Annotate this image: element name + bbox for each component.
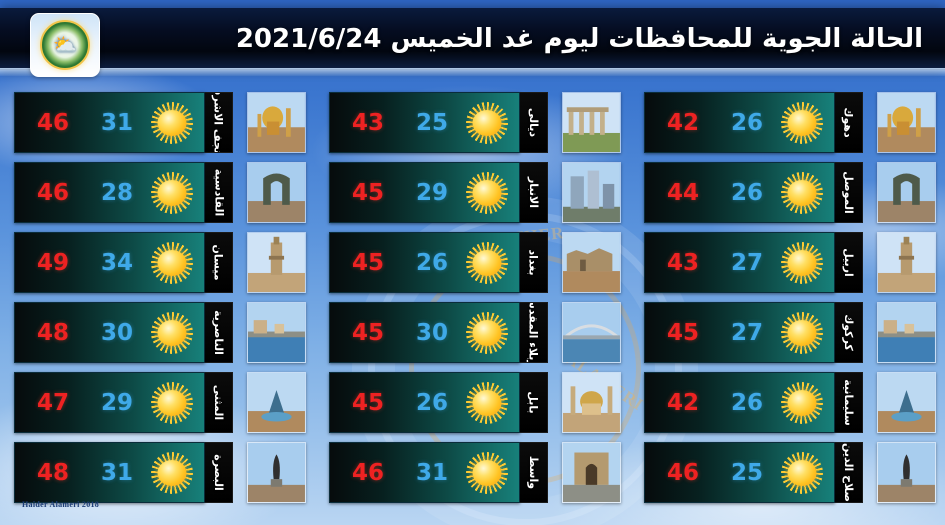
min-temperature: 31 [101,110,133,136]
forecast-row[interactable]: 4625صلاح الدين [644,442,936,501]
forecast-row[interactable]: 4527كركوك [644,302,936,361]
governorate-name: بغداد [527,249,540,275]
sun-icon [466,452,508,494]
forecast-row[interactable]: 4631واسط [329,442,621,501]
sun-disc [158,110,187,136]
sun-disc [158,320,187,346]
governorate-name: ميسان [212,244,225,280]
landmark-karbala [562,302,621,363]
forecast-row[interactable]: 4729المثنى [14,372,306,431]
governorate-name: المثنى [212,385,225,420]
forecast-panel: 4831 [14,442,205,503]
governorate-name: كركوك [842,314,855,351]
landmark-sulaymaniyah [877,372,936,433]
sun-icon [151,172,193,214]
forecast-panel: 4631 [14,92,205,153]
forecast-grid: 4226دهوك 4426الموصل 4327اربيل 4527كركوك … [0,92,945,517]
max-temperature: 44 [667,180,699,206]
forecast-panel: 4530 [329,302,520,363]
sun-icon [781,172,823,214]
sun-disc [158,460,187,486]
sun-disc [473,390,502,416]
forecast-row[interactable]: 4526بغداد [329,232,621,291]
sun-disc [788,390,817,416]
sun-icon [151,242,193,284]
landmark-kirkuk [877,302,936,363]
min-temperature: 31 [101,460,133,486]
forecast-panel: 4631 [329,442,520,503]
governorate-name: كربلاء المقدسة [527,302,540,363]
governorate-label-strip: الموصل [835,162,864,223]
cloud-sun-icon: ⛅ [53,36,77,55]
max-temperature: 46 [37,110,69,136]
sun-disc [473,460,502,486]
sun-icon [151,382,193,424]
governorate-label-strip: بغداد [520,232,549,293]
governorate-label-strip: الناصرية [205,302,234,363]
forecast-panel: 4325 [329,92,520,153]
governorate-label-strip: صلاح الدين [835,442,864,503]
forecast-panel: 4226 [644,92,835,153]
sun-icon [466,382,508,424]
governorate-name: القادسية [212,169,225,217]
sun-icon [151,452,193,494]
landmark-salahaddin [877,442,936,503]
forecast-row[interactable]: 4325ديالى [329,92,621,151]
forecast-panel: 4327 [644,232,835,293]
sun-icon [151,312,193,354]
landmark-erbil [877,232,936,293]
sun-disc [473,250,502,276]
column-middle: 4325ديالى 4529الانبار 4526بغداد 4530كربل… [315,92,630,517]
sun-disc [788,110,817,136]
sun-disc [788,250,817,276]
governorate-name: واسط [527,456,540,489]
min-temperature: 25 [731,460,763,486]
max-temperature: 43 [352,110,384,136]
forecast-panel: 4830 [14,302,205,363]
governorate-name: الانبار [527,177,540,208]
governorate-label-strip: كربلاء المقدسة [520,302,549,363]
page-title: الحالة الجوية للمحافظات ليوم غد الخميس 2… [236,8,923,70]
max-temperature: 45 [352,250,384,276]
min-temperature: 29 [101,390,133,416]
min-temperature: 26 [731,180,763,206]
header-bar: الحالة الجوية للمحافظات ليوم غد الخميس 2… [0,8,945,70]
max-temperature: 46 [37,180,69,206]
forecast-row[interactable]: 4426الموصل [644,162,936,221]
max-temperature: 46 [352,460,384,486]
governorate-label-strip: ديالى [520,92,549,153]
landmark-najaf [247,92,306,153]
max-temperature: 46 [667,460,699,486]
logo-ring: ⛅ [40,20,90,70]
sun-disc [473,110,502,136]
min-temperature: 31 [416,460,448,486]
min-temperature: 25 [416,110,448,136]
landmark-maysan [247,232,306,293]
min-temperature: 26 [731,390,763,416]
sun-disc [788,320,817,346]
forecast-row[interactable]: 4529الانبار [329,162,621,221]
forecast-row[interactable]: 4631النجف الاشرف [14,92,306,151]
sun-icon [781,242,823,284]
min-temperature: 28 [101,180,133,206]
governorate-name: سليمانية [842,379,855,426]
governorate-label-strip: اربيل [835,232,864,293]
landmark-wasit [562,442,621,503]
sun-disc [158,180,187,206]
max-temperature: 42 [667,390,699,416]
weather-forecast-poster: HAIDER ALAMERI WEATHER الحالة الجوية للم… [0,0,945,525]
forecast-panel: 4628 [14,162,205,223]
max-temperature: 49 [37,250,69,276]
governorate-label-strip: كركوك [835,302,864,363]
sun-icon [466,172,508,214]
forecast-row[interactable]: 4226سليمانية [644,372,936,431]
governorate-label-strip: بابل [520,372,549,433]
forecast-row[interactable]: 4526بابل [329,372,621,431]
sun-icon [151,102,193,144]
governorate-name: ديالى [527,108,540,137]
sun-icon [781,382,823,424]
min-temperature: 30 [416,320,448,346]
min-temperature: 34 [101,250,133,276]
governorate-label-strip: المثنى [205,372,234,433]
governorate-name: النجف الاشرف [212,92,225,153]
landmark-qadisiyah [247,162,306,223]
sun-icon [466,242,508,284]
forecast-panel: 4529 [329,162,520,223]
sun-icon [466,102,508,144]
forecast-panel: 4934 [14,232,205,293]
min-temperature: 26 [416,390,448,416]
max-temperature: 48 [37,460,69,486]
sun-icon [781,452,823,494]
governorate-label-strip: دهوك [835,92,864,153]
forecast-panel: 4526 [329,372,520,433]
sun-disc [158,250,187,276]
forecast-row[interactable]: 4934ميسان [14,232,306,291]
governorate-label-strip: القادسية [205,162,234,223]
landmark-babil [562,372,621,433]
sun-icon [781,102,823,144]
column-left: 4631النجف الاشرف 4628القادسية 4934ميسان … [0,92,315,517]
landmark-baghdad [562,232,621,293]
sun-disc [788,180,817,206]
max-temperature: 48 [37,320,69,346]
sun-icon [781,312,823,354]
max-temperature: 45 [352,320,384,346]
landmark-dohuk [877,92,936,153]
forecast-panel: 4426 [644,162,835,223]
governorate-label-strip: واسط [520,442,549,503]
min-temperature: 30 [101,320,133,346]
governorate-label-strip: النجف الاشرف [205,92,234,153]
forecast-row[interactable]: 4830الناصرية [14,302,306,361]
organization-logo: ⛅ [30,13,100,77]
landmark-basra [247,442,306,503]
governorate-name: صلاح الدين [842,443,855,502]
min-temperature: 27 [731,250,763,276]
landmark-diyala [562,92,621,153]
sun-disc [158,390,187,416]
forecast-row[interactable]: 4327اربيل [644,232,936,291]
forecast-row[interactable]: 4530كربلاء المقدسة [329,302,621,361]
sun-disc [788,460,817,486]
forecast-row[interactable]: 4831البصرة [14,442,306,501]
governorate-name: البصرة [212,454,225,491]
forecast-panel: 4625 [644,442,835,503]
forecast-panel: 4729 [14,372,205,433]
governorate-label-strip: البصرة [205,442,234,503]
governorate-name: الموصل [842,171,855,214]
min-temperature: 26 [416,250,448,276]
min-temperature: 27 [731,320,763,346]
governorate-name: بابل [527,391,540,413]
forecast-panel: 4226 [644,372,835,433]
landmark-muthanna [247,372,306,433]
forecast-row[interactable]: 4628القادسية [14,162,306,221]
forecast-panel: 4526 [329,232,520,293]
governorate-label-strip: ميسان [205,232,234,293]
sun-disc [473,320,502,346]
max-temperature: 45 [352,180,384,206]
footer-credit: Haider Alameri 2018 [22,500,99,509]
landmark-nasiriyah [247,302,306,363]
forecast-panel: 4527 [644,302,835,363]
max-temperature: 42 [667,110,699,136]
column-right: 4226دهوك 4426الموصل 4327اربيل 4527كركوك … [630,92,945,517]
max-temperature: 45 [352,390,384,416]
governorate-label-strip: سليمانية [835,372,864,433]
sun-disc [473,180,502,206]
landmark-mosul [877,162,936,223]
governorate-name: اربيل [842,248,855,277]
min-temperature: 26 [731,110,763,136]
max-temperature: 43 [667,250,699,276]
min-temperature: 29 [416,180,448,206]
max-temperature: 45 [667,320,699,346]
governorate-label-strip: الانبار [520,162,549,223]
governorate-name: دهوك [842,107,855,137]
forecast-row[interactable]: 4226دهوك [644,92,936,151]
sun-icon [466,312,508,354]
governorate-name: الناصرية [212,310,225,355]
max-temperature: 47 [37,390,69,416]
landmark-anbar [562,162,621,223]
